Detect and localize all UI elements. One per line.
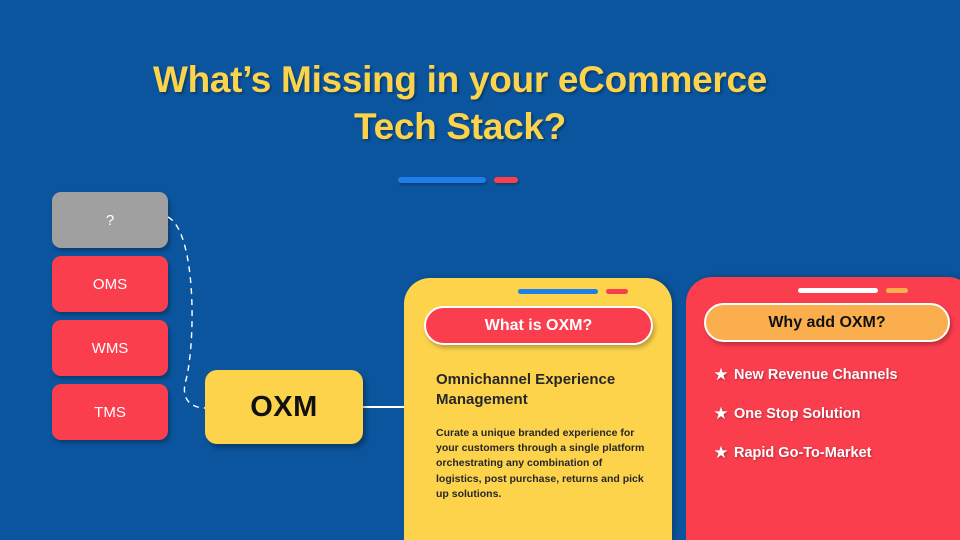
card-what-divider-short-bar <box>606 289 628 294</box>
card-why-divider-short-bar <box>886 288 908 293</box>
benefit-label: Rapid Go-To-Market <box>734 445 871 461</box>
why-add-oxm-button-label: Why add OXM? <box>768 314 885 332</box>
stack-item-label: OMS <box>93 276 127 293</box>
what-is-oxm-button[interactable]: What is OXM? <box>424 306 653 345</box>
benefit-label: One Stop Solution <box>734 406 860 422</box>
card-why-add-oxm: Why add OXM? ★ New Revenue Channels ★ On… <box>686 277 960 540</box>
tech-stack-list: ? OMS WMS TMS <box>52 192 168 448</box>
card-what-body: Curate a unique branded experience for y… <box>436 426 648 502</box>
star-icon: ★ <box>708 443 734 463</box>
list-item: ★ Rapid Go-To-Market <box>708 443 960 463</box>
stack-item-tms[interactable]: TMS <box>52 384 168 440</box>
star-icon: ★ <box>708 365 734 385</box>
dashed-connector-unknown-to-oxm <box>168 217 205 408</box>
star-icon: ★ <box>708 404 734 424</box>
oxm-node-label: OXM <box>250 391 318 424</box>
stack-item-wms[interactable]: WMS <box>52 320 168 376</box>
list-item: ★ One Stop Solution <box>708 404 960 424</box>
stack-item-oms[interactable]: OMS <box>52 256 168 312</box>
why-add-oxm-button[interactable]: Why add OXM? <box>704 303 950 342</box>
slide-canvas: What’s Missing in your eCommerce Tech St… <box>0 0 960 540</box>
card-why-divider-long-bar <box>798 288 878 293</box>
stack-item-label: WMS <box>92 340 129 357</box>
benefit-label: New Revenue Channels <box>734 367 898 383</box>
title-divider-long-bar <box>398 177 486 183</box>
title-divider-short-bar <box>494 177 518 183</box>
card-what-divider <box>518 289 628 295</box>
stack-item-label: TMS <box>94 404 126 421</box>
slide-title: What’s Missing in your eCommerce Tech St… <box>60 56 860 151</box>
card-what-divider-long-bar <box>518 289 598 294</box>
title-divider <box>398 177 518 184</box>
benefit-list: ★ New Revenue Channels ★ One Stop Soluti… <box>708 365 960 482</box>
stack-item-label: ? <box>106 212 114 229</box>
slide-title-line-1: What’s Missing in your eCommerce <box>60 56 860 103</box>
card-why-divider <box>798 288 908 294</box>
card-what-is-oxm: What is OXM? Omnichannel Experience Mana… <box>404 278 672 540</box>
slide-title-line-2: Tech Stack? <box>60 103 860 150</box>
oxm-node[interactable]: OXM <box>205 370 363 444</box>
stack-item-unknown[interactable]: ? <box>52 192 168 248</box>
what-is-oxm-button-label: What is OXM? <box>485 317 593 335</box>
list-item: ★ New Revenue Channels <box>708 365 960 385</box>
card-what-heading: Omnichannel Experience Management <box>436 370 646 411</box>
